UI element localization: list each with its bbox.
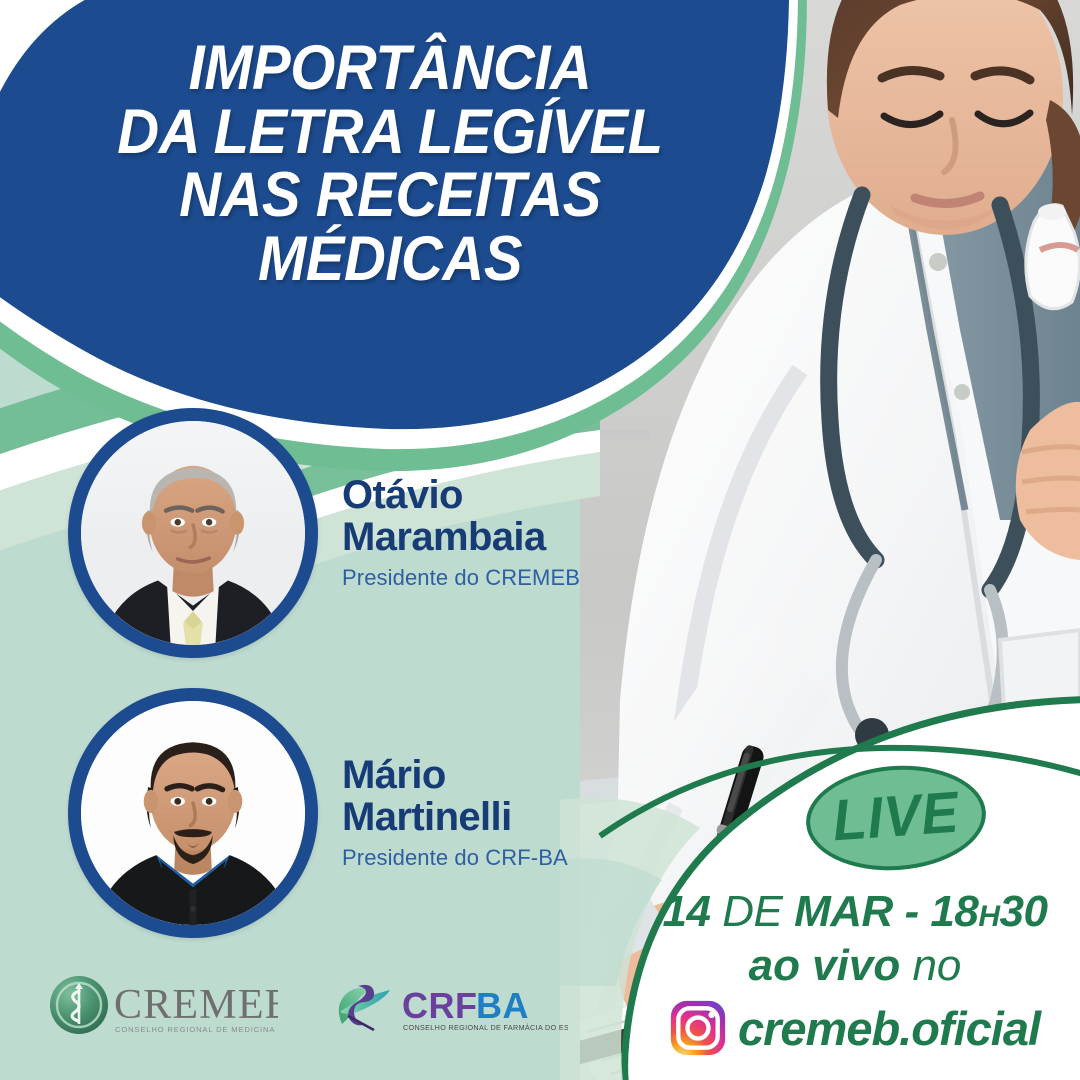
cremeb-logo: CREMEB CONSELHO REGIONAL DE MEDICINA DO …: [48, 972, 278, 1038]
avatar-photo-1: [81, 421, 305, 645]
event-day: 14: [663, 887, 711, 936]
live-badge-label: LIVE: [807, 758, 985, 874]
event-hour: 18: [930, 887, 978, 936]
avatar-mario-martinelli: [68, 688, 318, 938]
speaker-2-name-line2: Martinelli: [342, 797, 568, 838]
title-line-2: DA LETRA LEGÍVEL: [68, 102, 712, 164]
event-info-block: 14 DE MAR - 18H30 ao vivo no: [640, 890, 1070, 1056]
speaker-2-name-line1: Mário: [342, 755, 568, 796]
speaker-card-2: Mário Martinelli Presidente do CRF-BA: [68, 688, 568, 938]
event-ao-vivo: ao vivo no: [640, 944, 1070, 988]
poster-title: IMPORTÂNCIA DA LETRA LEGÍVEL NAS RECEITA…: [40, 38, 740, 291]
event-month: MAR: [794, 887, 893, 936]
event-minute: 30: [1000, 887, 1048, 936]
speaker-1-name-line2: Marambaia: [342, 517, 580, 558]
title-line-1: IMPORTÂNCIA: [68, 38, 712, 100]
avatar-photo-2: [81, 701, 305, 925]
live-badge: LIVE: [803, 760, 990, 876]
ba-wordmark: BA: [476, 985, 529, 1026]
no-text: no: [912, 941, 961, 990]
cremeb-tagline: CONSELHO REGIONAL DE MEDICINA DO ESTADO …: [115, 1025, 278, 1034]
speaker-card-1: Otávio Marambaia Presidente do CREMEB: [68, 408, 580, 658]
event-datetime: 14 DE MAR - 18H30: [640, 890, 1070, 934]
crf-wordmark: CRF: [402, 985, 478, 1026]
crfba-logo: CRF BA CONSELHO REGIONAL DE FARMÁCIA DO …: [328, 972, 568, 1038]
crfba-tagline: CONSELHO REGIONAL DE FARMÁCIA DO ESTADO …: [403, 1023, 568, 1032]
cremeb-wordmark: CREMEB: [114, 982, 278, 1028]
title-line-3: NAS RECEITAS: [68, 165, 712, 227]
instagram-handle-row[interactable]: cremeb.oficial: [640, 1000, 1070, 1056]
title-line-4: MÉDICAS: [68, 229, 712, 291]
poster-canvas: IMPORTÂNCIA DA LETRA LEGÍVEL NAS RECEITA…: [0, 0, 1080, 1080]
ao-vivo-text: ao vivo: [749, 941, 901, 990]
speaker-1-role: Presidente do CREMEB: [342, 565, 580, 591]
logo-row: CREMEB CONSELHO REGIONAL DE MEDICINA DO …: [48, 972, 568, 1038]
speaker-2-text: Mário Martinelli Presidente do CRF-BA: [342, 755, 568, 870]
avatar-otavio-marambaia: [68, 408, 318, 658]
event-de: DE: [722, 887, 782, 936]
instagram-icon[interactable]: [670, 1000, 726, 1056]
event-hour-marker: H: [978, 900, 999, 933]
speaker-1-text: Otávio Marambaia Presidente do CREMEB: [342, 475, 580, 590]
speaker-2-role: Presidente do CRF-BA: [342, 845, 568, 871]
instagram-handle[interactable]: cremeb.oficial: [738, 1005, 1040, 1052]
speaker-1-name-line1: Otávio: [342, 475, 580, 516]
event-separator: -: [905, 887, 919, 936]
